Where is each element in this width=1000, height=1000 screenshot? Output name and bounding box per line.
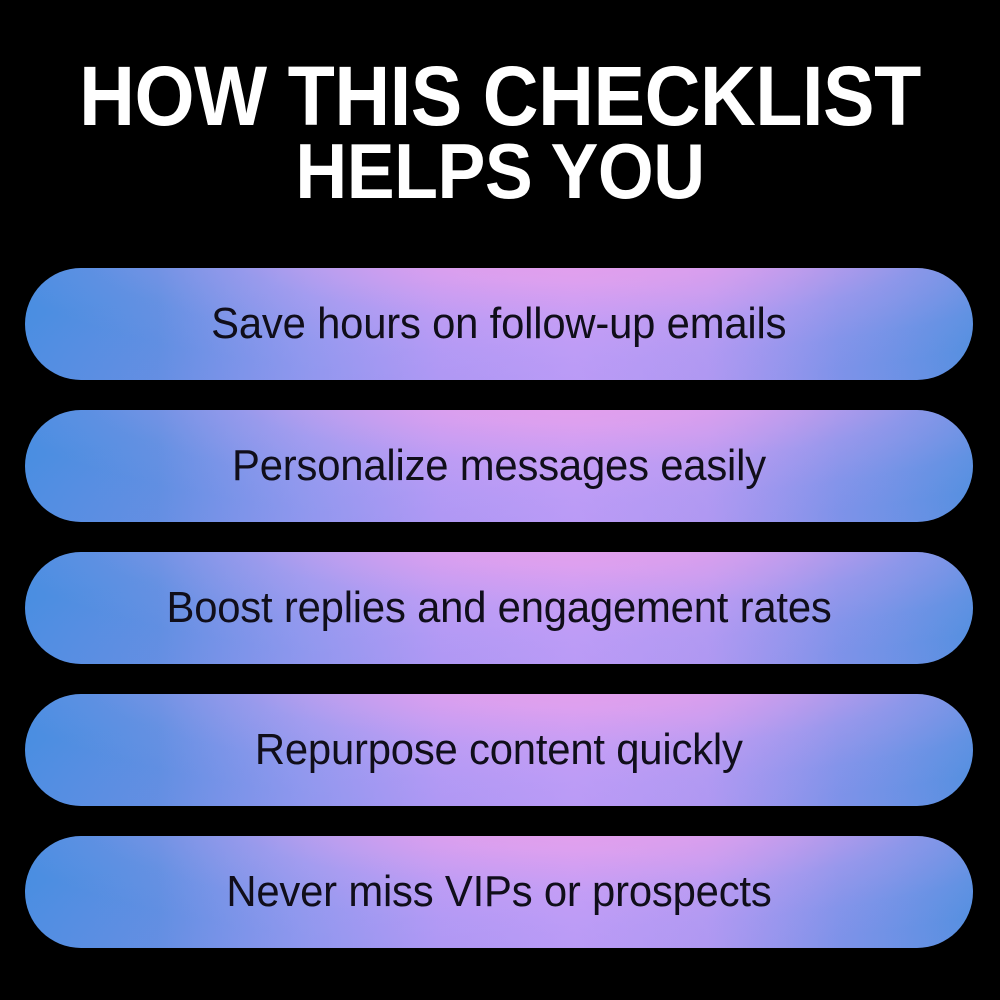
benefit-pill-1-label: Save hours on follow-up emails	[211, 302, 786, 346]
page-title-line-2: HELPS YOU	[40, 134, 960, 208]
page-title-line-1: HOW THIS CHECKLIST	[40, 58, 960, 134]
benefit-pill-5-label: Never miss VIPs or prospects	[226, 870, 771, 914]
benefit-pill-2[interactable]: Personalize messages easily	[25, 410, 973, 522]
benefit-pill-1[interactable]: Save hours on follow-up emails	[25, 268, 973, 380]
benefit-pill-list: Save hours on follow-up emails Personali…	[25, 268, 973, 948]
benefit-pill-4-label: Repurpose content quickly	[255, 728, 743, 772]
benefit-pill-4[interactable]: Repurpose content quickly	[25, 694, 973, 806]
benefit-pill-3[interactable]: Boost replies and engagement rates	[25, 552, 973, 664]
checklist-poster: HOW THIS CHECKLIST HELPS YOU Save hours …	[0, 0, 1000, 1000]
benefit-pill-5[interactable]: Never miss VIPs or prospects	[25, 836, 973, 948]
benefit-pill-3-label: Boost replies and engagement rates	[166, 586, 831, 630]
benefit-pill-2-label: Personalize messages easily	[232, 444, 766, 488]
page-title: HOW THIS CHECKLIST HELPS YOU	[0, 58, 1000, 208]
